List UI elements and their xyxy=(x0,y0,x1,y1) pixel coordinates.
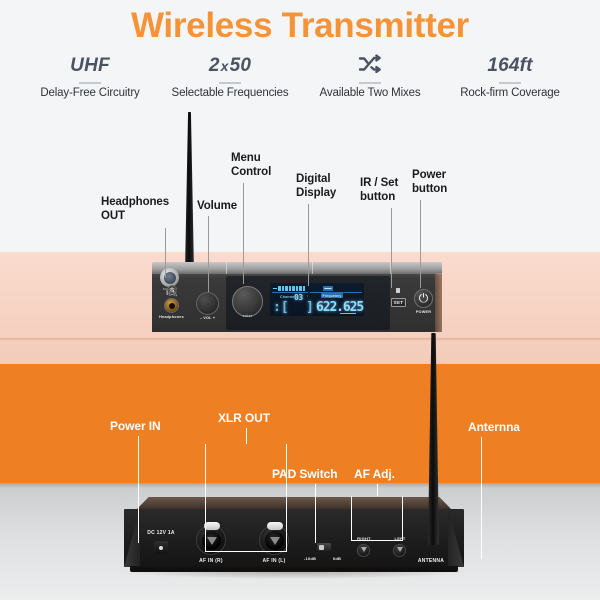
feature-divider xyxy=(359,82,381,84)
feature-item-coverage: 164ft Rock-firm Coverage xyxy=(440,54,580,99)
headphones-out-jack[interactable] xyxy=(164,298,179,313)
feature-subtitle: Rock-firm Coverage xyxy=(440,87,580,99)
brand-badge-icon xyxy=(160,268,179,287)
callout-digital-display: Digital Display xyxy=(296,173,352,200)
af-in-left-label: AF IN (L) xyxy=(249,558,299,564)
feature-subtitle: Delay-Free Circuitry xyxy=(20,87,160,99)
feature-row: UHF Delay-Free Circuitry 2x50 Selectable… xyxy=(20,54,580,99)
pad-0db-label: 0dB xyxy=(325,556,349,561)
power-button[interactable]: ⏻ xyxy=(414,289,433,308)
feature-item-two-mixes: Available Two Mixes xyxy=(300,54,440,99)
page-title: Wireless Transmitter xyxy=(0,0,600,48)
bracket-af-adj xyxy=(351,496,403,541)
rear-unit-shadow xyxy=(120,571,468,579)
rf-bar xyxy=(289,286,292,291)
display-bracket-right: ] xyxy=(306,300,314,315)
feature-heading: 164ft xyxy=(440,54,580,78)
headphones-label: Headphones xyxy=(156,315,187,319)
rf-bar xyxy=(303,286,306,291)
enter-label: enter xyxy=(232,313,263,318)
frequency-label: Frequency xyxy=(321,293,343,298)
feature-divider xyxy=(499,82,521,84)
headphone-icon-glyph: 🎧 xyxy=(166,287,178,297)
callout-power-in: Power IN xyxy=(110,420,161,434)
top-seam xyxy=(312,262,313,274)
antenna-front-unit xyxy=(185,112,194,272)
top-seam xyxy=(226,262,227,274)
callout-menu-control: Menu Control xyxy=(231,152,293,179)
rf-bar xyxy=(299,286,302,291)
feature-heading: UHF xyxy=(20,54,160,78)
pad-minus10-label: -10dB xyxy=(296,556,324,561)
feature-heading-tail: 50 xyxy=(230,55,252,76)
callout-headphones-out: Headphones OUT xyxy=(101,196,187,223)
callout-power-button: Power button xyxy=(412,169,464,196)
channel-colon: : xyxy=(307,294,308,298)
leader-digital-display xyxy=(308,204,309,286)
leader-power-button xyxy=(420,200,421,288)
rf-bar xyxy=(282,286,285,291)
callout-antenna: Anternna xyxy=(468,421,520,435)
leader-antenna xyxy=(481,437,482,559)
feature-heading-text: UHF xyxy=(70,55,110,76)
feature-subtitle: Selectable Frequencies xyxy=(160,87,300,99)
antenna-rear-unit xyxy=(428,333,439,545)
callout-pad-switch: PAD Switch xyxy=(272,468,337,482)
rf-bar xyxy=(292,286,295,291)
feature-item-frequencies: 2x50 Selectable Frequencies xyxy=(160,54,300,99)
callout-xlr-out: XLR OUT xyxy=(218,412,270,426)
rf-dash-icon xyxy=(273,288,277,289)
feature-divider xyxy=(219,82,241,84)
af-adjust-right-pot[interactable] xyxy=(357,544,370,557)
antenna-rod xyxy=(185,112,194,272)
peach-floor-line xyxy=(0,338,600,341)
rf-bar xyxy=(285,286,288,291)
set-button[interactable]: SET xyxy=(391,298,406,307)
power-label: POWER xyxy=(410,310,437,314)
floor-shadow xyxy=(0,483,600,488)
rf-bar xyxy=(278,286,281,291)
frequency-underline xyxy=(340,313,356,314)
dc-power-input-jack[interactable] xyxy=(154,541,168,554)
af-in-right-label: AF IN (R) xyxy=(186,558,236,564)
feature-heading: 2x50 xyxy=(160,54,300,78)
antenna-rod xyxy=(428,333,439,545)
callout-ir-set-button: IR / Set button xyxy=(360,177,412,204)
leader-volume xyxy=(208,216,209,292)
volume-knob[interactable] xyxy=(196,292,219,315)
feature-heading-text: 2 xyxy=(209,55,220,76)
display-bracket-left: :[ xyxy=(273,300,289,315)
pad-switch[interactable] xyxy=(317,543,331,551)
front-chassis-edge-highlight xyxy=(435,273,442,332)
transmitter-front-view: SOUNDS râ; 🎧 Headphones – VOL + enter ▬▬… xyxy=(152,262,442,332)
bracket-xlr-out xyxy=(205,444,287,552)
callout-af-adj: AF Adj. xyxy=(354,468,395,482)
shuffle-icon xyxy=(300,54,440,78)
leader-xlr-out-stem xyxy=(246,428,247,444)
callout-volume: Volume xyxy=(197,200,257,214)
feature-heading-text: 164ft xyxy=(487,55,532,76)
leader-af-adj-stem xyxy=(377,484,378,496)
front-chassis-top xyxy=(152,262,442,274)
leader-menu-control xyxy=(243,183,244,284)
feature-item-uhf: UHF Delay-Free Circuitry xyxy=(20,54,160,99)
leader-ir-set xyxy=(391,208,392,288)
feature-divider xyxy=(79,82,101,84)
leader-headphones xyxy=(165,228,166,278)
header: Wireless Transmitter UHF Delay-Free Circ… xyxy=(0,0,600,99)
leader-pad-switch xyxy=(315,484,316,543)
feature-multiplier: x xyxy=(220,58,230,74)
volume-label: – VOL + xyxy=(192,316,223,320)
channel-value: 03 xyxy=(294,293,303,302)
dc-power-label: DC 12V 1A xyxy=(136,530,186,536)
lcd-mix-chip: ▬▬ xyxy=(323,286,333,291)
digital-display: ▬▬ Channel 03 : Frequency :[ ] 622.625 xyxy=(270,283,364,316)
transmitter-rear-view: DC 12V 1A AF IN (R) AF IN (L) -10dB 0dB … xyxy=(124,497,464,579)
antenna-connector-label: ANTENNA xyxy=(400,558,462,564)
af-adjust-left-pot[interactable] xyxy=(393,544,406,557)
ir-sensor-icon xyxy=(396,288,400,293)
leader-power-in xyxy=(138,436,139,543)
rf-bar xyxy=(296,286,299,291)
feature-subtitle: Available Two Mixes xyxy=(300,87,440,99)
